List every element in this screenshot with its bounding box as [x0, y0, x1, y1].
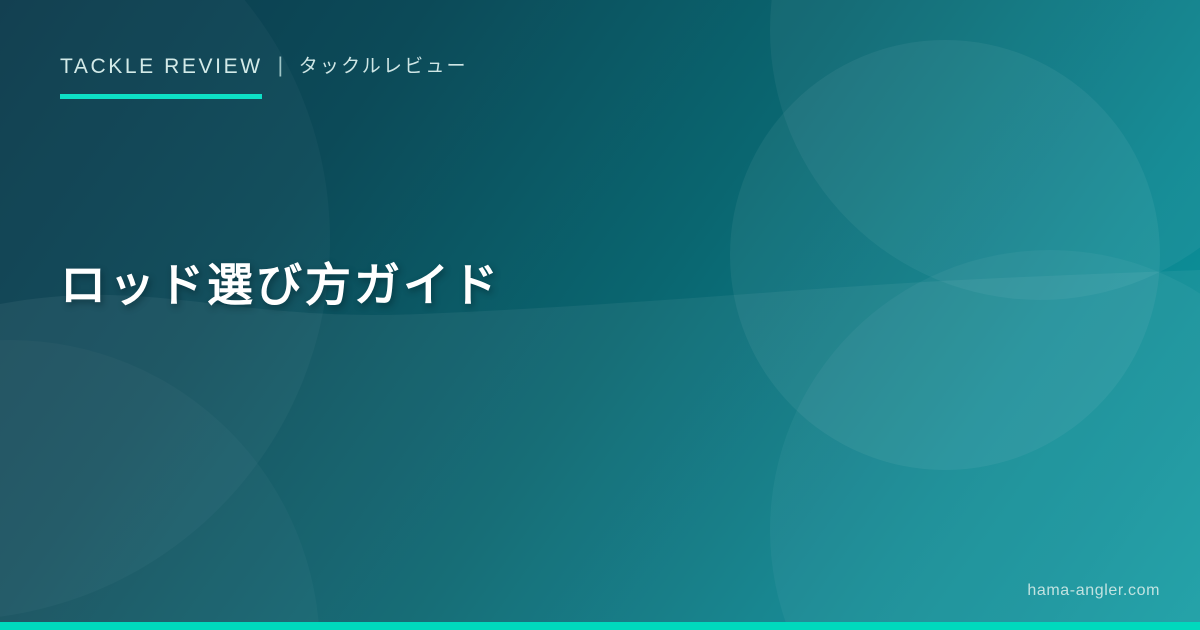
page-title: ロッド選び方ガイド	[60, 256, 501, 315]
footer-domain: hama-angler.com	[1027, 582, 1160, 600]
eyebrow-block: TACKLE REVIEW | タックルレビュー	[60, 56, 468, 99]
eyebrow: TACKLE REVIEW | タックルレビュー	[60, 56, 468, 77]
eyebrow-separator: |	[278, 55, 286, 76]
wave-overlay	[0, 270, 1200, 630]
hero-banner: TACKLE REVIEW | タックルレビュー ロッド選び方ガイド hama-…	[0, 0, 1200, 630]
eyebrow-label-ja: タックルレビュー	[299, 57, 468, 76]
bottom-accent-bar	[0, 622, 1200, 630]
eyebrow-label-en: TACKLE REVIEW	[60, 56, 263, 77]
eyebrow-accent-rule	[60, 94, 262, 99]
decorative-circle-top-right-lg	[770, 0, 1200, 300]
